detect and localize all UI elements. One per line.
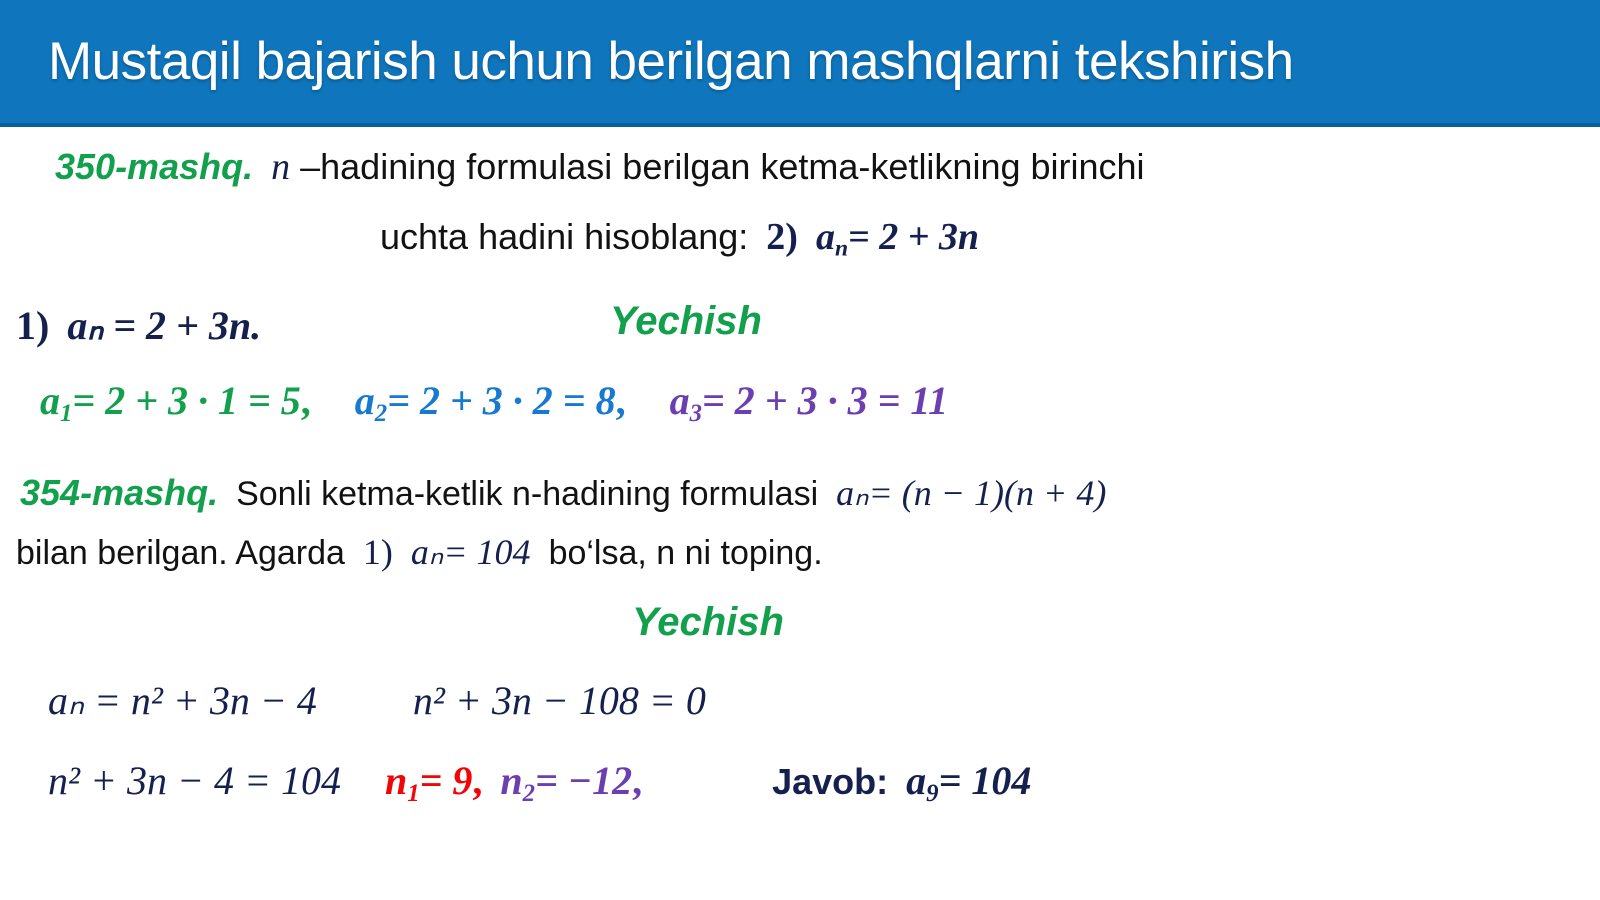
root-name: n — [500, 758, 522, 803]
term-separator: , — [301, 378, 311, 423]
exercise-354-text-c: bo‘lsa, n ni toping. — [549, 534, 823, 572]
term-a3: a3= 2 + 3 · 3 = 11 — [670, 378, 949, 423]
exercise-354-text-b: bilan berilgan. Agarda — [16, 534, 345, 572]
term-subscript: 1 — [60, 400, 72, 427]
root-separator: , — [632, 758, 642, 803]
exercise-350-terms-row: a1= 2 + 3 · 1 = 5,a2= 2 + 3 · 2 = 8,a3= … — [40, 377, 948, 428]
exercise-354-condition-index: 1) — [363, 532, 393, 572]
term-name: a — [670, 378, 690, 423]
solution-step-3: n² + 3n − 4 = 104 — [48, 758, 341, 803]
exercise-350-variable: n — [271, 146, 290, 188]
exercise-354-line-2: bilan berilgan. Agarda1)aₙ= 104bo‘lsa, n… — [16, 531, 823, 573]
exercise-354-line-1: 354-mashq.Sonli ketma-ketlik n-hadining … — [20, 472, 1106, 514]
term-expression: = 2 + 3 · 2 = 8 — [387, 378, 615, 423]
formula-rhs: = 2 + 3n — [848, 216, 979, 258]
term-separator: , — [616, 378, 626, 423]
term-name: a — [40, 378, 60, 423]
exercise-350-label: 350-mashq. — [55, 146, 253, 187]
term-expression: = 2 + 3 · 3 = 11 — [702, 378, 948, 423]
page-title: Mustaqil bajarish uchun berilgan mashqla… — [48, 31, 1294, 92]
exercise-354-condition: aₙ= 104 — [411, 532, 531, 572]
root-name: n — [385, 758, 407, 803]
answer-subscript: 9 — [926, 780, 938, 807]
exercise-354-label: 354-mashq. — [20, 472, 218, 513]
term-expression: = 2 + 3 · 1 = 5 — [72, 378, 300, 423]
formula-subscript: n — [835, 236, 848, 262]
exercise-350-prompt-text-1: –hadining formulasi berilgan ketma-ketli… — [300, 146, 1144, 187]
solution-step-1: aₙ = n² + 3n − 4 — [48, 678, 317, 723]
exercise-350-given-index: 2) — [766, 216, 798, 258]
term-subscript: 2 — [375, 400, 387, 427]
answer-rhs: = 104 — [939, 758, 1032, 803]
root-subscript: 2 — [523, 780, 535, 807]
exercise-354-solution-row-2: n² + 3n − 4 = 104n1= 9,n2= −12,Javob:a9=… — [48, 757, 1031, 808]
solution-step-2: n² + 3n − 108 = 0 — [413, 678, 706, 723]
restated-index: 1) — [16, 303, 49, 348]
exercise-354-general-formula: aₙ= (n − 1)(n + 4) — [836, 473, 1106, 513]
root-n1: n1= 9, — [385, 758, 482, 803]
term-name: a — [355, 378, 375, 423]
term-subscript: 3 — [690, 400, 702, 427]
answer-value: a9= 104 — [906, 758, 1031, 803]
root-separator: , — [472, 758, 482, 803]
exercise-354-solution-row-1: aₙ = n² + 3n − 4n² + 3n − 108 = 0 — [48, 677, 706, 724]
term-a2: a2= 2 + 3 · 2 = 8, — [355, 378, 626, 423]
exercise-350-prompt-text-2: uchta hadini hisoblang: — [380, 216, 748, 257]
solution-heading-354: Yechish — [632, 600, 784, 645]
root-expression: = 9 — [420, 758, 473, 803]
exercise-350-prompt-line-1: 350-mashq.n –hadining formulasi berilgan… — [55, 145, 1145, 189]
slide-title-banner: Mustaqil bajarish uchun berilgan mashqla… — [0, 0, 1600, 127]
root-expression: = −12 — [535, 758, 632, 803]
answer-label: Javob: — [772, 761, 888, 802]
restated-formula-text: aₙ = 2 + 3n. — [67, 303, 261, 348]
term-a1: a1= 2 + 3 · 1 = 5, — [40, 378, 311, 423]
formula-lhs: a — [816, 216, 835, 258]
exercise-350-prompt-line-2: uchta hadini hisoblang:2)an= 2 + 3n — [380, 215, 979, 263]
root-subscript: 1 — [407, 780, 419, 807]
exercise-354-text-a: Sonli ketma-ketlik n-hadining formulasi — [236, 475, 818, 513]
exercise-350-given-formula: an= 2 + 3n — [816, 216, 979, 258]
root-n2: n2= −12, — [500, 758, 642, 803]
solution-heading-350: Yechish — [610, 299, 762, 344]
exercise-350-restated-formula: 1)aₙ = 2 + 3n. — [16, 302, 261, 349]
answer-lhs: a — [906, 758, 926, 803]
slide-content: 350-mashq.n –hadining formulasi berilgan… — [0, 127, 1600, 900]
